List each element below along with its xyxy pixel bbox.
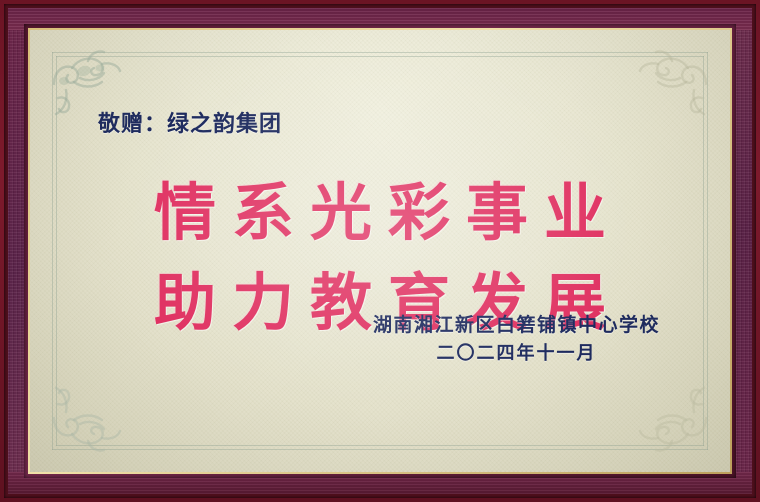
signature-block: 湖南湘江新区白箬铺镇中心学校 二〇二四年十一月 — [373, 311, 660, 368]
signature-organization: 湖南湘江新区白箬铺镇中心学校 — [373, 311, 660, 340]
certificate-parchment: 敬赠：绿之韵集团 情系光彩事业 助力教育发展 湖南湘江新区白箬铺镇中心学校 二〇… — [30, 30, 730, 472]
certificate-content: 敬赠：绿之韵集团 情系光彩事业 助力教育发展 湖南湘江新区白箬铺镇中心学校 二〇… — [30, 30, 730, 472]
signature-date: 二〇二四年十一月 — [373, 340, 660, 368]
award-plaque: 敬赠：绿之韵集团 情系光彩事业 助力教育发展 湖南湘江新区白箬铺镇中心学校 二〇… — [0, 0, 760, 502]
donor-line: 敬赠：绿之韵集团 — [98, 106, 282, 138]
headline-line-1: 情系光彩事业 — [30, 168, 730, 258]
